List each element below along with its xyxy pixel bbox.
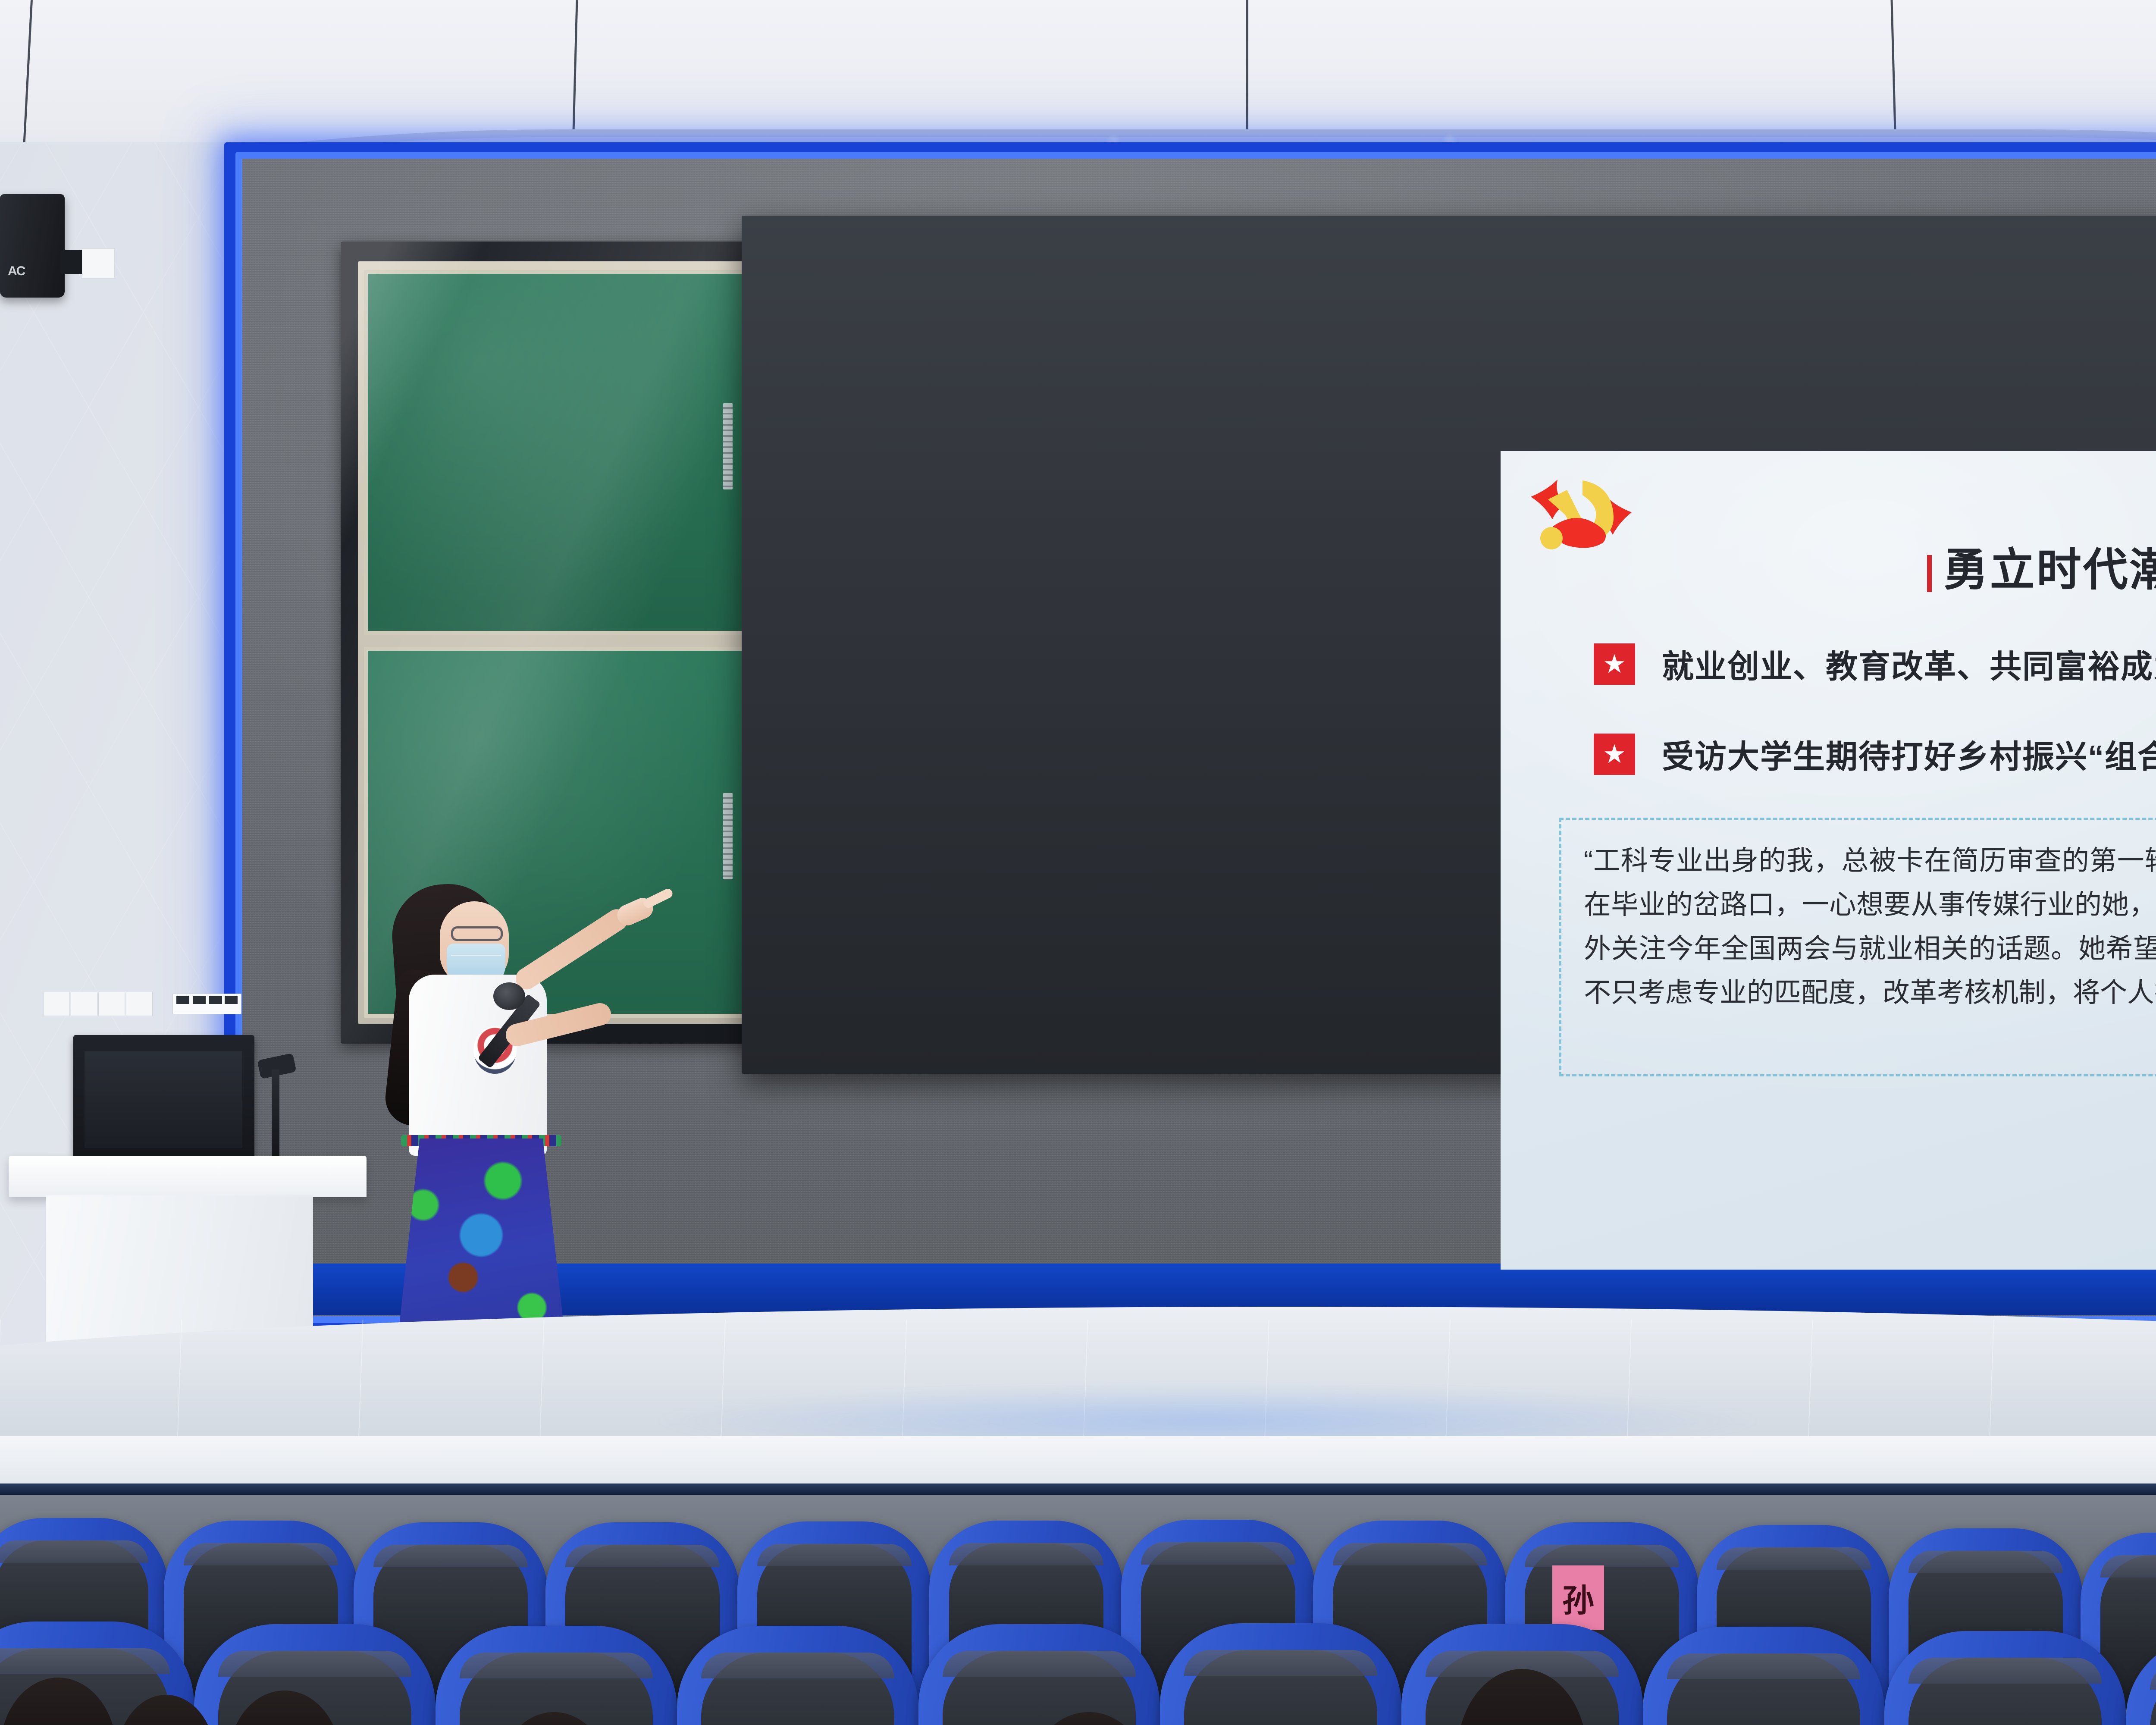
projection-screen-bezel: 勇立时代潮头、关注两会建言 ★ 就业创业、教育改革、共同富裕成为聚焦点 ★ 受访… xyxy=(742,216,2156,1074)
list-item: ★ 就业创业、教育改革、共同富裕成为聚焦点 xyxy=(1594,641,2156,687)
speaker-logo: AC xyxy=(8,264,25,279)
slide-bullet-list: ★ 就业创业、教育改革、共同富裕成为聚焦点 ★ 受访大学生期待打好乡村振兴“组合… xyxy=(1594,641,2156,821)
glasses-icon xyxy=(451,926,503,941)
wall-plate[interactable] xyxy=(126,992,153,1016)
audience-seating: 孙 xyxy=(0,1436,2156,1725)
microphone-head-icon xyxy=(493,982,525,1010)
presenter-pointing-arm xyxy=(511,905,632,994)
bullet-text: 就业创业、教育改革、共同富裕成为聚焦点 xyxy=(1662,641,2156,687)
audience-seat[interactable] xyxy=(1884,1631,2126,1725)
wall-plate xyxy=(82,248,115,279)
red-star-marker-icon: ★ xyxy=(1594,734,1635,775)
wall-plate-group xyxy=(43,992,285,1018)
list-item: ★ 受访大学生期待打好乡村振兴“组合拳” xyxy=(1594,731,2156,777)
front-desk-edge xyxy=(0,1483,2156,1495)
audience-seat[interactable] xyxy=(1160,1623,1401,1725)
front-desk-surface xyxy=(0,1436,2156,1488)
lectern-top xyxy=(9,1156,367,1197)
seat-name-card: 孙 xyxy=(1552,1565,1604,1630)
title-accent-bar xyxy=(1927,555,1932,592)
page-title: 勇立时代潮头、关注两会建言 xyxy=(1501,533,2156,598)
bullet-text: 受访大学生期待打好乡村振兴“组合拳” xyxy=(1662,731,2156,777)
wall-plate[interactable] xyxy=(71,992,97,1016)
quote-text: “工科专业出身的我，总被卡在简历审查的第一轮。” 就读于福建师范大学通信工程专业… xyxy=(1561,820,2156,1015)
lecture-hall-photo: AC AC xyxy=(0,0,2156,1725)
desk-microphone-stand xyxy=(272,1069,279,1156)
quote-callout-box: “工科专业出身的我，总被卡在简历审查的第一轮。” 就读于福建师范大学通信工程专业… xyxy=(1559,818,2156,1076)
audience-seat[interactable] xyxy=(1643,1627,1884,1725)
audience-seat[interactable] xyxy=(436,1626,677,1725)
wall-speaker-left: AC xyxy=(0,194,65,298)
slide-title-text: 勇立时代潮头、关注两会建言 xyxy=(1943,533,2156,598)
wall-plate[interactable] xyxy=(43,992,70,1016)
red-star-marker-icon: ★ xyxy=(1594,643,1635,685)
podium-monitor-screen xyxy=(85,1051,242,1148)
audience-seat[interactable] xyxy=(918,1624,1160,1725)
presentation-slide: 勇立时代潮头、关注两会建言 ★ 就业创业、教育改革、共同富裕成为聚焦点 ★ 受访… xyxy=(1501,451,2156,1270)
audience-seat[interactable] xyxy=(2126,1637,2156,1725)
wall-switch-panel[interactable] xyxy=(172,994,241,1014)
wall-plate[interactable] xyxy=(98,992,125,1016)
audience-seat[interactable] xyxy=(677,1626,918,1725)
